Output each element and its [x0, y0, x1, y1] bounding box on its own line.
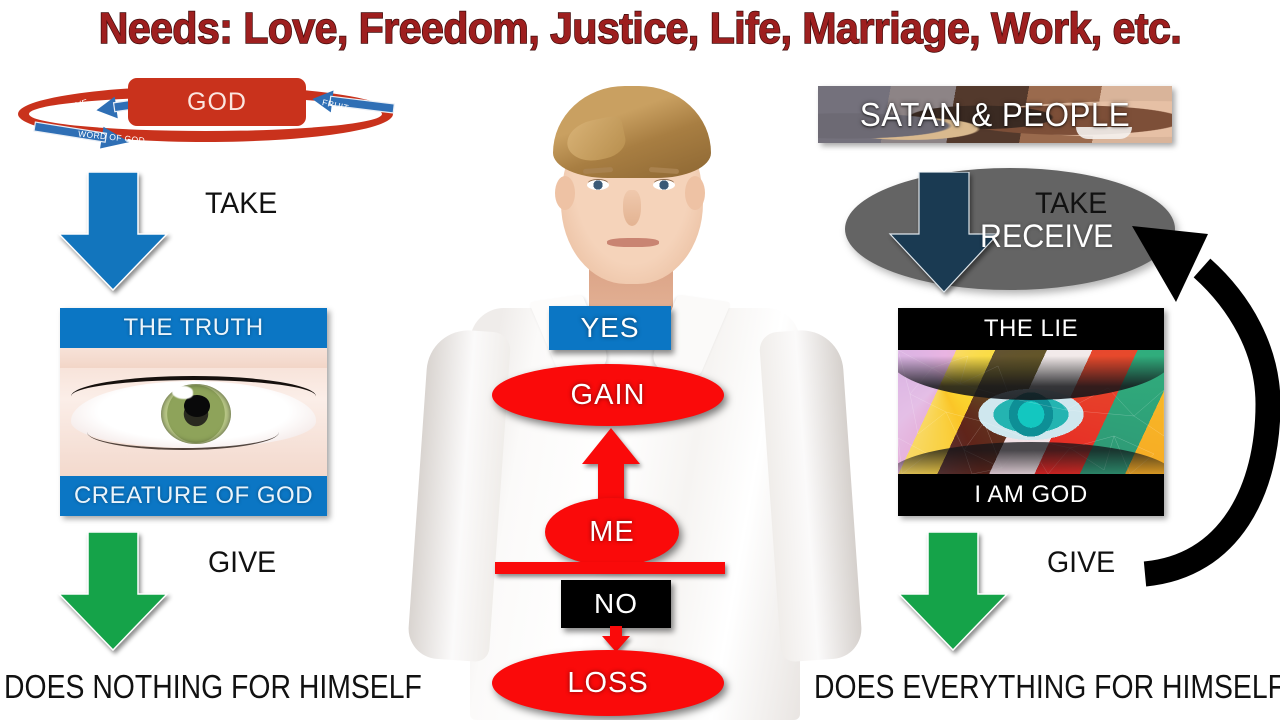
green-human-eye-photo [60, 348, 327, 476]
yes-label: YES [580, 312, 639, 344]
truth-card-subtitle: CREATURE OF GOD [60, 476, 327, 516]
gain-ellipse: GAIN [492, 364, 724, 426]
left-take-arrow-icon [57, 172, 169, 292]
no-box: NO [561, 580, 671, 628]
gain-label: GAIN [571, 379, 646, 412]
truth-card-title: THE TRUTH [60, 308, 327, 348]
right-conclusion-label: DOES EVERYTHING FOR HIMSELF [814, 668, 1280, 706]
left-give-label: GIVE [208, 546, 276, 580]
right-give-arrow-icon [897, 532, 1009, 652]
page-title: Needs: Love, Freedom, Justice, Life, Mar… [45, 4, 1235, 54]
loss-ellipse: LOSS [492, 650, 724, 716]
god-loop-diagram: GOD LOVE FRUIT WORD OF GOD [18, 78, 393, 150]
yes-box: YES [549, 306, 671, 350]
me-ellipse: ME [545, 498, 679, 566]
loss-label: LOSS [567, 667, 648, 700]
god-label-bar: GOD [128, 78, 306, 126]
left-take-label: TAKE [205, 187, 277, 221]
left-give-arrow-icon [57, 532, 169, 652]
me-label: ME [589, 516, 635, 549]
satan-and-people-label: SATAN & PEOPLE [827, 86, 1163, 143]
left-conclusion-label: DOES NOTHING FOR HIMSELF [4, 668, 422, 706]
satan-and-people-banner: SATAN & PEOPLE [818, 86, 1172, 143]
no-label: NO [594, 588, 638, 620]
feedback-loop-arrow-icon [1090, 190, 1280, 590]
barrier-bar [495, 562, 725, 574]
god-label: GOD [187, 90, 247, 115]
slide-canvas: Needs: Love, Freedom, Justice, Life, Mar… [0, 0, 1280, 720]
truth-card: THE TRUTH CREATURE OF GOD [60, 308, 327, 516]
